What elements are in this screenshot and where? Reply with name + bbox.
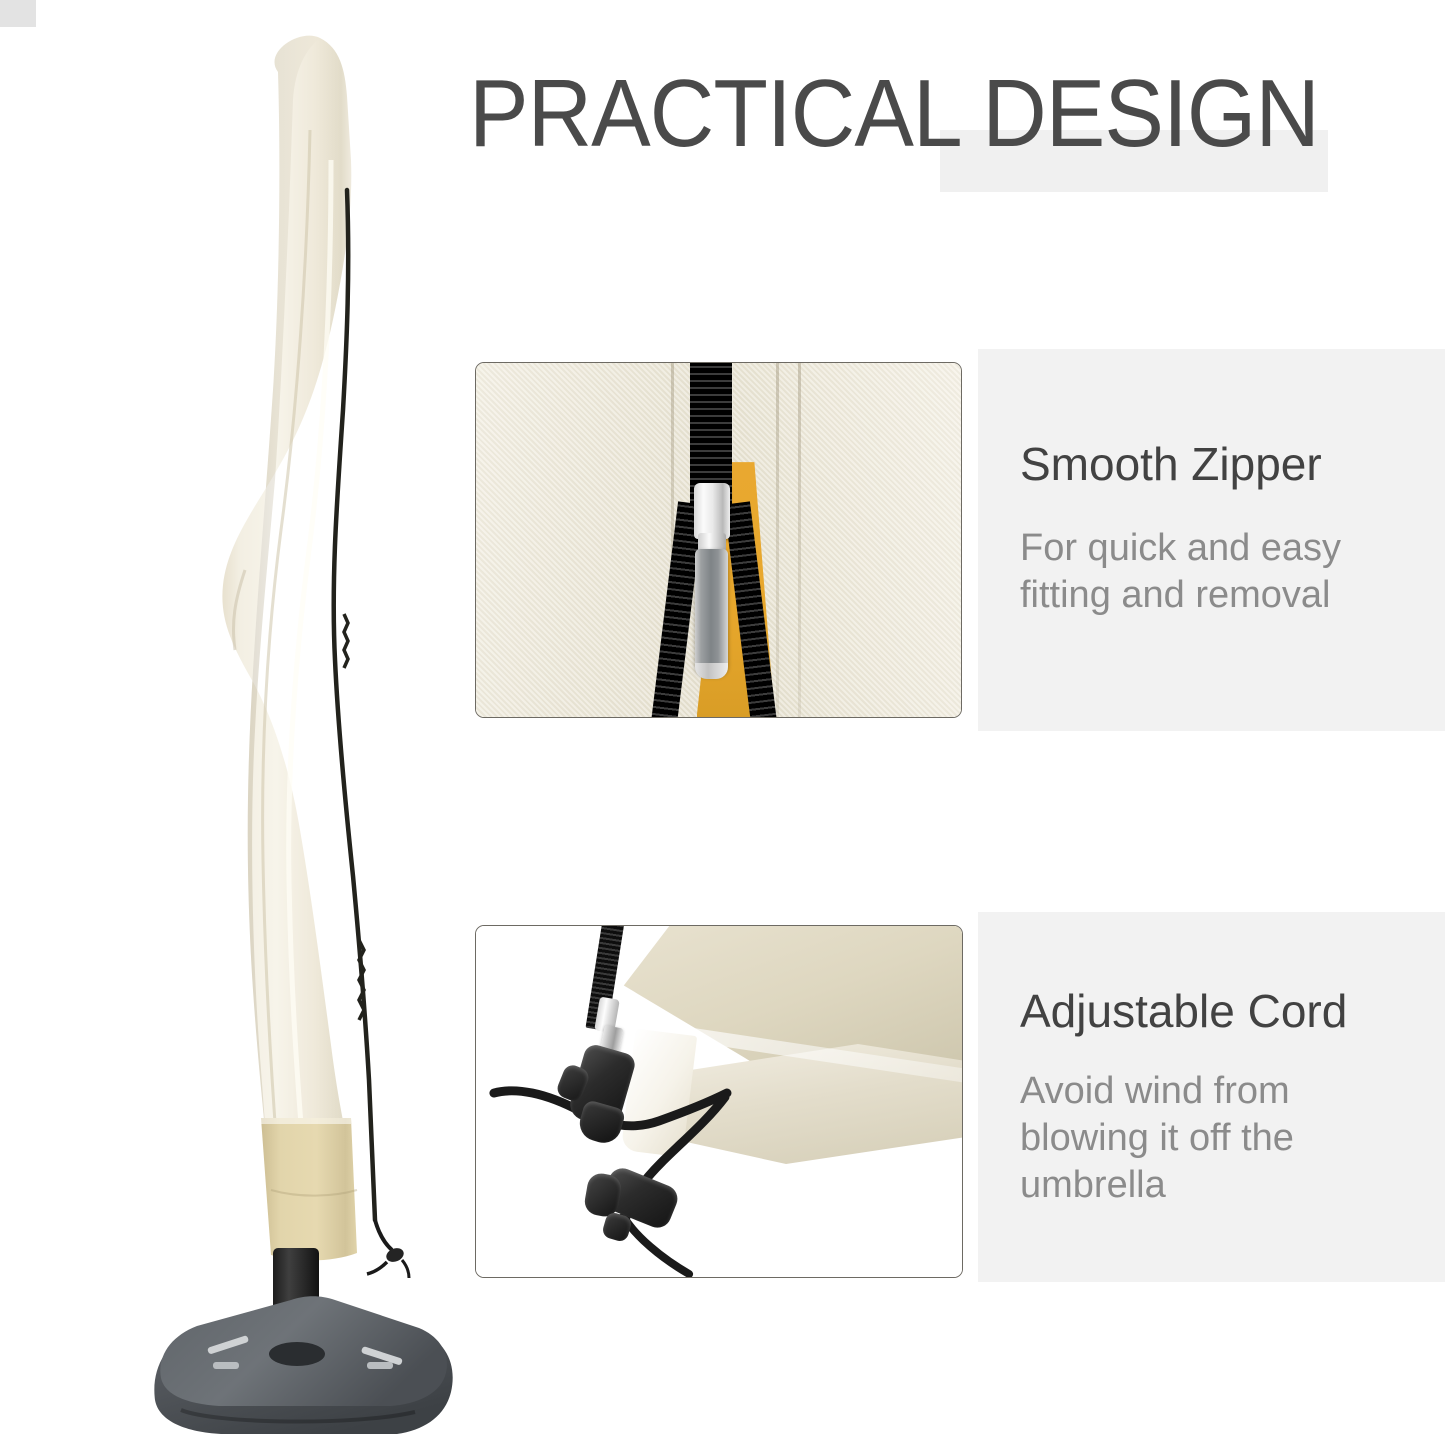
- feature-text-panel-smooth-zipper: Smooth Zipper For quick and easy fitting…: [978, 349, 1445, 731]
- parasol-cover-illustration: [95, 10, 495, 1440]
- zipper-macro-photo: [476, 363, 961, 717]
- cover-band-seam: [261, 1118, 351, 1124]
- page-title: PRACTICAL DESIGN: [469, 62, 1319, 166]
- feature-heading-adjustable-cord: Adjustable Cord: [1020, 984, 1445, 1038]
- product-hero-image: [95, 10, 495, 1440]
- cord-macro-photo: [476, 926, 962, 1277]
- cover-cord-tail-2: [402, 1260, 409, 1278]
- feature-heading-smooth-zipper: Smooth Zipper: [1020, 437, 1445, 491]
- fabric-seam-right-2: [798, 363, 801, 717]
- cover-bottom-band: [261, 1118, 357, 1260]
- cover-cord-tail-1: [367, 1262, 387, 1274]
- feature-photo-smooth-zipper: [475, 362, 962, 718]
- zipper-slider-body: [694, 483, 730, 539]
- product-feature-infographic: PRACTICAL DESIGN Smooth Zipper For quick…: [0, 0, 1445, 1445]
- feature-photo-adjustable-cord: [475, 925, 963, 1278]
- zipper-pull-tip: [695, 663, 728, 679]
- base-pole-socket: [269, 1342, 325, 1366]
- zipper-pull-tab: [695, 549, 728, 675]
- feature-text-panel-adjustable-cord: Adjustable Cord Avoid wind from blowing …: [978, 912, 1445, 1282]
- cover-zipper-line: [334, 190, 375, 1220]
- cover-zipper-teeth: [344, 614, 348, 668]
- feature-description-smooth-zipper: For quick and easy fitting and removal: [1020, 525, 1420, 619]
- cover-cord: [375, 1220, 392, 1250]
- feature-description-adjustable-cord: Avoid wind from blowing it off the umbre…: [1020, 1068, 1420, 1209]
- corner-mark: [0, 0, 36, 27]
- page-title-block: PRACTICAL DESIGN: [455, 62, 1430, 207]
- fabric-seam-right: [776, 363, 779, 717]
- elastic-cord-illustration: [476, 926, 962, 1277]
